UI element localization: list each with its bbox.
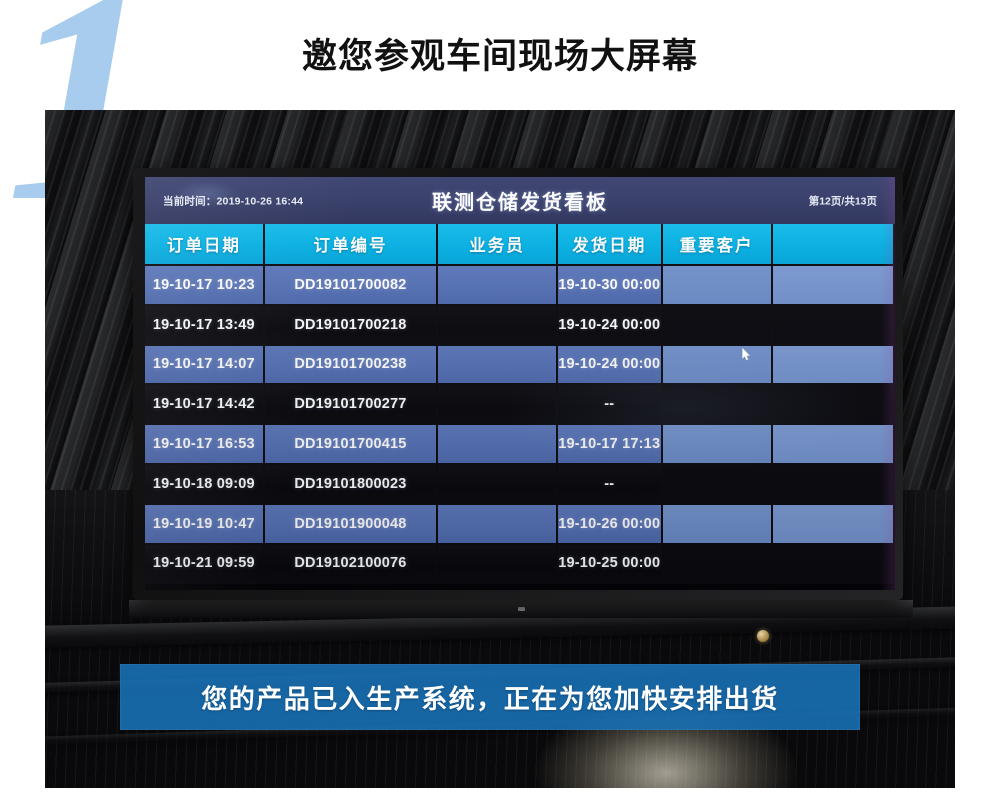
cell-order-date: 19-10-21 09:59 [145,545,265,583]
column-header-order-date: 订单日期 [145,224,265,264]
cell-ship-date: 19-10-26 00:00 [558,505,663,543]
table-row: 19-10-17 13:49 DD19101700218 19-10-24 00… [145,306,893,346]
cell-order-number: DD19101700238 [265,346,439,384]
cell-salesperson [438,385,558,423]
cell-ship-date: 19-10-30 00:00 [558,266,663,304]
table-row: 19-10-17 10:23 DD19101700082 19-10-30 00… [145,266,893,306]
caption-banner: 您的产品已入生产系统，正在为您加快安排出货 [120,664,860,730]
column-header-key-customer: 重要客户 [663,224,773,264]
table-row: 19-10-18 09:09 DD19101800023 -- [145,465,893,505]
cell-key-customer [663,545,773,583]
cell-extra [773,385,893,423]
cell-order-number: DD19102100076 [265,545,439,583]
column-header-salesperson: 业务员 [438,224,558,264]
cell-order-number: DD19101900048 [265,505,439,543]
cell-salesperson [438,346,558,384]
cell-key-customer [663,346,773,384]
cell-order-date: 19-10-17 16:53 [145,425,265,463]
table-row: 19-10-21 09:59 DD19102100076 19-10-25 00… [145,545,893,585]
column-header-blank [773,224,893,264]
cell-extra [773,306,893,344]
cell-order-number: DD19101700415 [265,425,439,463]
cell-ship-date: -- [558,465,663,503]
dashboard-title: 联测仓储发货看板 [432,186,608,215]
cell-extra [773,465,893,503]
cell-salesperson [438,465,558,503]
wall-mounted-tv: 当前时间：2019-10-26 16:44 联测仓储发货看板 第12页/共13页… [133,168,903,600]
cell-order-date: 19-10-19 10:47 [145,505,265,543]
tv-lower-frame [129,600,913,618]
page-indicator: 第12页/共13页 [809,193,877,208]
cell-order-number: DD19101800023 [265,465,439,503]
cell-ship-date: 19-10-24 00:00 [558,306,663,344]
cell-extra [773,505,893,543]
cell-key-customer [663,425,773,463]
shipment-board-table: 订单日期 订单编号 业务员 发货日期 重要客户 19-10-17 10:23 D… [145,224,895,590]
tv-bezel: 当前时间：2019-10-26 16:44 联测仓储发货看板 第12页/共13页… [133,168,903,600]
cell-ship-date: -- [558,385,663,423]
table-row: 19-10-17 14:42 DD19101700277 -- [145,385,893,425]
cell-salesperson [438,425,558,463]
cell-order-date: 19-10-17 10:23 [145,266,265,304]
table-row: 19-10-19 10:47 DD19101900048 19-10-26 00… [145,505,893,545]
cell-key-customer [663,266,773,304]
cell-extra [773,346,893,384]
cell-key-customer [663,306,773,344]
caption-banner-text: 您的产品已入生产系统，正在为您加快安排出货 [201,679,779,716]
cell-salesperson [438,545,558,583]
cell-extra [773,266,893,304]
cell-key-customer [663,505,773,543]
column-header-order-number: 订单编号 [265,224,439,264]
cell-order-date: 19-10-17 14:07 [145,346,265,384]
cell-ship-date: 19-10-25 00:00 [558,545,663,583]
cell-salesperson [438,306,558,344]
cell-salesperson [438,266,558,304]
cell-order-date: 19-10-17 14:42 [145,385,265,423]
tv-screen: 当前时间：2019-10-26 16:44 联测仓储发货看板 第12页/共13页… [145,177,895,590]
cell-order-date: 19-10-18 09:09 [145,465,265,503]
cell-extra [773,425,893,463]
cell-order-number: DD19101700082 [265,266,439,304]
column-header-ship-date: 发货日期 [558,224,663,264]
ceiling-light-dot [757,630,769,642]
cell-order-number: DD19101700218 [265,306,439,344]
cell-extra [773,545,893,583]
cell-order-number: DD19101700277 [265,385,439,423]
cell-key-customer [663,385,773,423]
table-row: 19-10-17 14:07 DD19101700238 19-10-24 00… [145,346,893,386]
cell-ship-date: 19-10-24 00:00 [558,346,663,384]
cell-salesperson [438,505,558,543]
cell-ship-date: 19-10-17 17:13 [558,425,663,463]
current-time-label: 当前时间：2019-10-26 16:44 [163,193,303,208]
page-root: 1 邀您参观车间现场大屏幕 当前时间：2019-10-26 16:44 联测仓储… [0,0,1000,798]
cell-order-date: 19-10-17 13:49 [145,306,265,344]
table-header-row: 订单日期 订单编号 业务员 发货日期 重要客户 [145,224,893,266]
page-title: 邀您参观车间现场大屏幕 [0,28,1000,79]
table-row: 19-10-17 16:53 DD19101700415 19-10-17 17… [145,425,893,465]
cell-key-customer [663,465,773,503]
dashboard-header: 当前时间：2019-10-26 16:44 联测仓储发货看板 第12页/共13页 [145,177,895,224]
